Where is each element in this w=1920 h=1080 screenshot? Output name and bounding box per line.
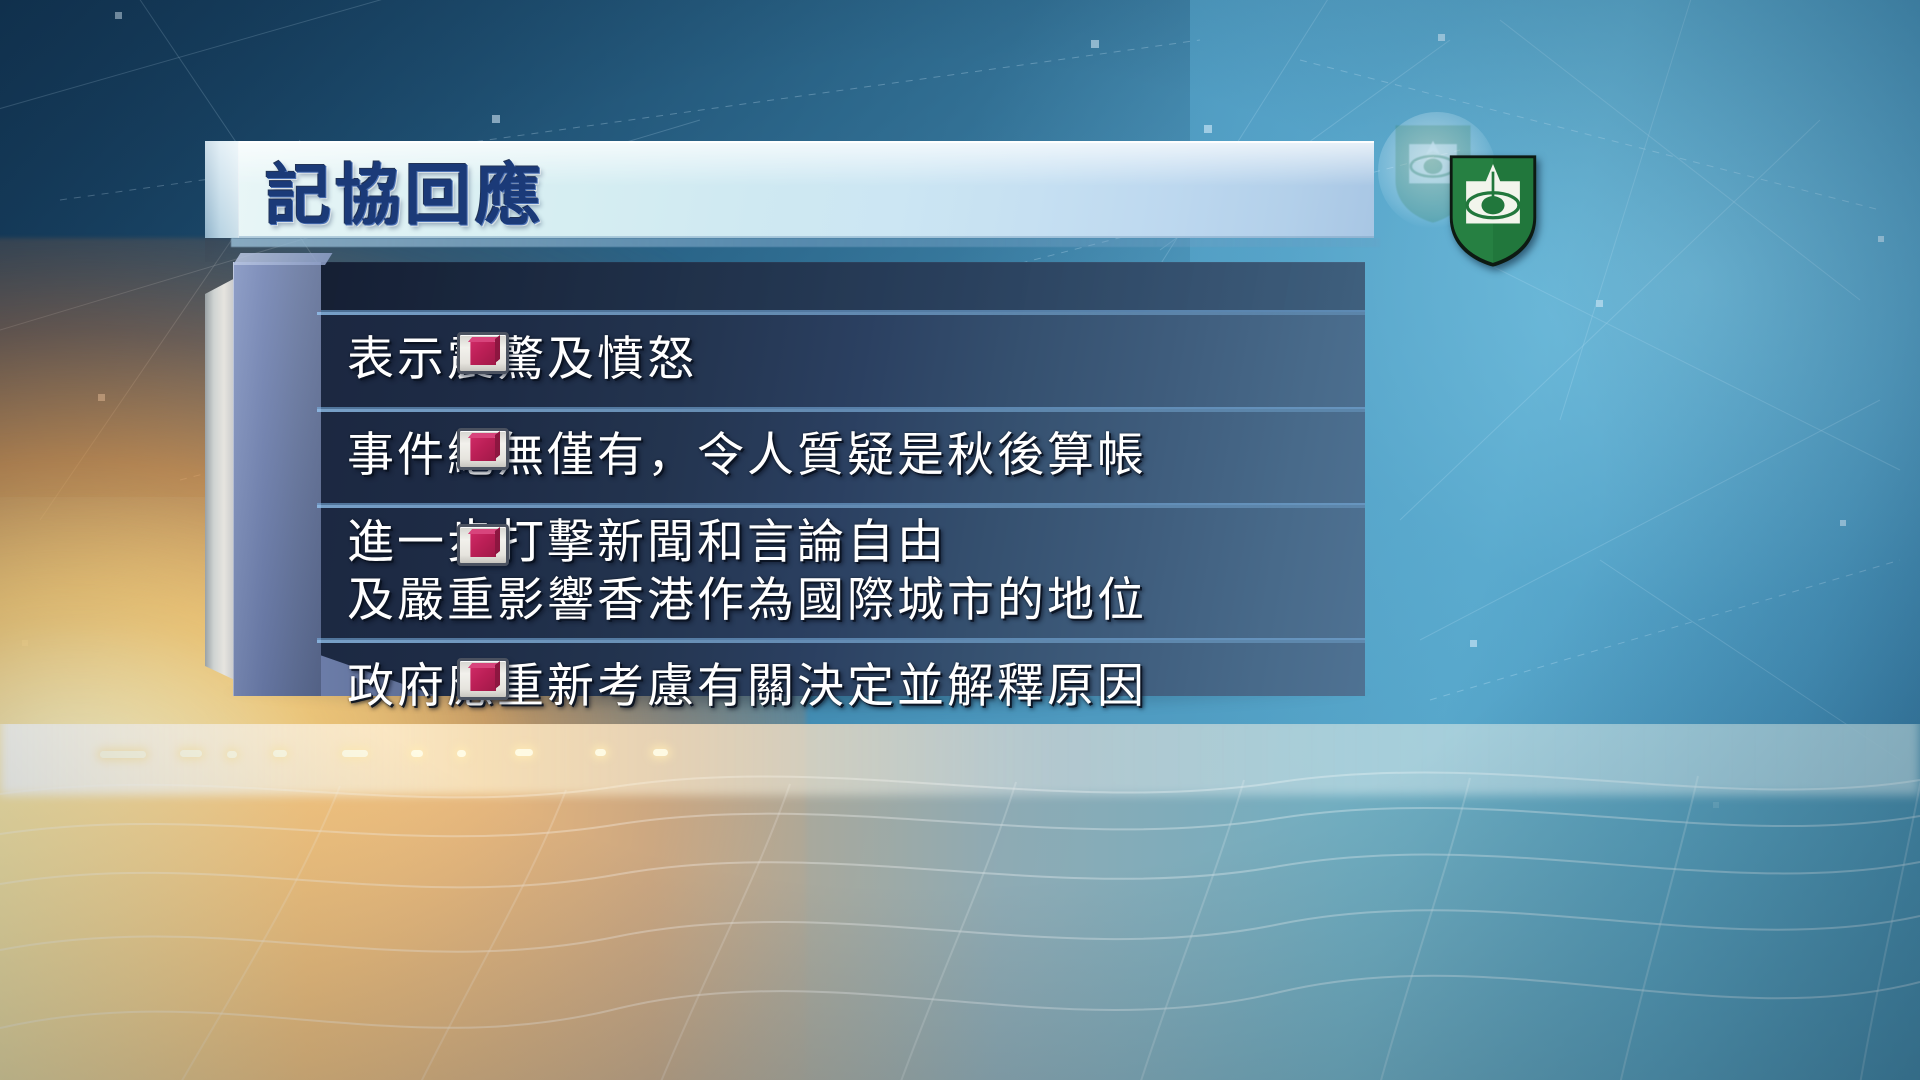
crimson-cube-bullet-icon [457, 428, 509, 470]
crimson-cube-bullet-icon [457, 332, 509, 374]
cube-glyph [470, 437, 496, 461]
title-bar-left-bevel [205, 141, 239, 238]
bullet-text: 政府應重新考慮有關決定並解釋原因 [317, 658, 1147, 715]
crimson-cube-bullet-icon [457, 524, 509, 566]
cube-glyph [470, 341, 496, 365]
page-title: 記協回應 [265, 142, 545, 238]
crimson-cube-bullet-icon [457, 658, 509, 700]
panel-top-strip [317, 262, 1365, 312]
bullet-text: 事件絕無僅有，令人質疑是秋後算帳 [317, 427, 1147, 484]
panel-bullet-rail [233, 262, 321, 696]
bullet-points-panel: 表示震驚及憤怒 事件絕無僅有，令人質疑是秋後算帳 進一步打擊新聞和言論自由 及嚴… [205, 262, 1365, 696]
headline-title-bar: 記協回應 [205, 141, 1374, 238]
panel-rail-top-bevel [233, 253, 332, 265]
hkja-shield-logo [1445, 152, 1541, 270]
row-separator-sheen [317, 409, 1365, 412]
title-bar-underline [231, 238, 1380, 247]
bullet-text: 進一步打擊新聞和言論自由 及嚴重影響香港作為國際城市的地位 [317, 514, 1147, 629]
row-separator-sheen [317, 312, 1365, 315]
row-separator-sheen [317, 505, 1365, 508]
cube-glyph [470, 667, 496, 691]
cube-glyph [470, 533, 496, 557]
row-separator-sheen [317, 640, 1365, 643]
